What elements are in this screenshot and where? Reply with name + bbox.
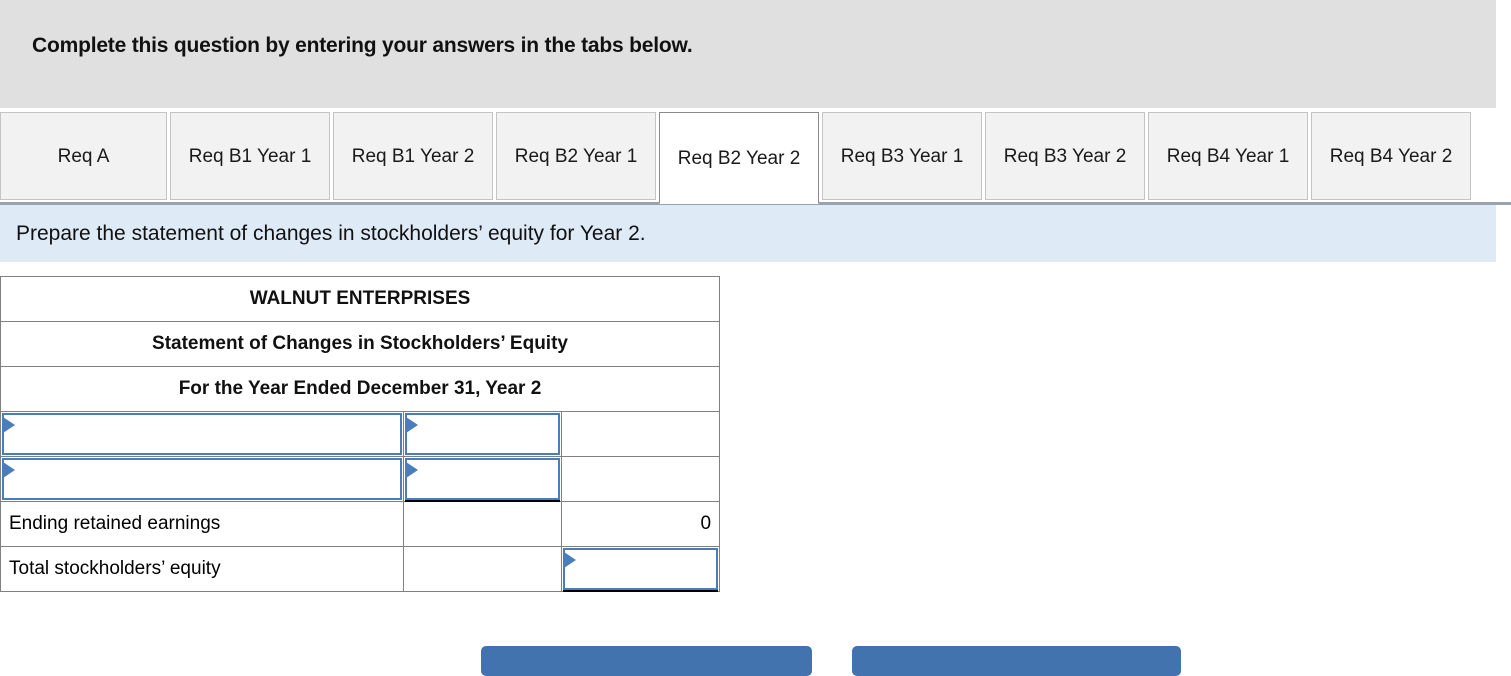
row-4-label-cell: Total stockholders’ equity: [1, 547, 404, 592]
row-2-col2-input[interactable]: [404, 457, 562, 502]
row-3-col3-cell[interactable]: 0: [562, 502, 720, 547]
tab-req-b4-year-2[interactable]: Req B4 Year 2: [1311, 112, 1471, 200]
tab-label: Req A: [58, 144, 110, 169]
dropdown-cell[interactable]: [405, 413, 560, 455]
tab-req-b1-year-2[interactable]: Req B1 Year 2: [333, 112, 493, 200]
table-row: Total stockholders’ equity: [1, 547, 720, 592]
table-header-row: Statement of Changes in Stockholders’ Eq…: [1, 322, 720, 367]
table-header-row: WALNUT ENTERPRISES: [1, 277, 720, 322]
row-1-label-input[interactable]: [1, 412, 404, 457]
statement-title-header: Statement of Changes in Stockholders’ Eq…: [1, 322, 720, 367]
tab-req-a[interactable]: Req A: [0, 112, 167, 200]
tab-label: Req B4 Year 2: [1330, 144, 1453, 169]
tab-label: Req B1 Year 2: [352, 144, 475, 169]
tab-req-b4-year-1[interactable]: Req B4 Year 1: [1148, 112, 1308, 200]
tab-req-b2-year-2[interactable]: Req B2 Year 2: [659, 112, 819, 204]
tab-label: Req B3 Year 1: [841, 144, 964, 169]
tab-req-b1-year-1[interactable]: Req B1 Year 1: [170, 112, 330, 200]
tab-label: Req B1 Year 1: [189, 144, 312, 169]
row-3-label-value: Ending retained earnings: [9, 513, 220, 534]
dropdown-cell[interactable]: [2, 413, 402, 455]
navigation-button-row: [0, 646, 1511, 663]
table-header-row: For the Year Ended December 31, Year 2: [1, 367, 720, 412]
row-1-col3-cell[interactable]: [562, 412, 720, 457]
statement-of-changes-table: WALNUT ENTERPRISES Statement of Changes …: [0, 276, 720, 592]
previous-button[interactable]: [481, 646, 812, 676]
tab-req-b3-year-2[interactable]: Req B3 Year 2: [985, 112, 1145, 200]
row-3-col2-cell[interactable]: [404, 502, 562, 547]
row-3-label-cell: Ending retained earnings: [1, 502, 404, 547]
row-2-col3-cell[interactable]: [562, 457, 720, 502]
tab-label: Req B4 Year 1: [1167, 144, 1290, 169]
table-row: [1, 457, 720, 502]
tab-req-b3-year-1[interactable]: Req B3 Year 1: [822, 112, 982, 200]
tab-strip: Req A Req B1 Year 1 Req B1 Year 2 Req B2…: [0, 108, 1511, 205]
tab-label: Req B2 Year 1: [515, 144, 638, 169]
dropdown-cell[interactable]: [2, 458, 402, 500]
instruction-banner: Complete this question by entering your …: [0, 0, 1496, 108]
row-3-col3-value: 0: [700, 513, 711, 534]
row-2-label-input[interactable]: [1, 457, 404, 502]
row-1-col2-input[interactable]: [404, 412, 562, 457]
requirement-instruction-text: Prepare the statement of changes in stoc…: [16, 222, 646, 246]
table-row: Ending retained earnings 0: [1, 502, 720, 547]
requirement-instruction-bar: Prepare the statement of changes in stoc…: [0, 205, 1496, 262]
row-4-col3-input[interactable]: [562, 547, 720, 592]
statement-table-wrapper: WALNUT ENTERPRISES Statement of Changes …: [0, 276, 719, 592]
tab-req-b2-year-1[interactable]: Req B2 Year 1: [496, 112, 656, 200]
statement-period-header: For the Year Ended December 31, Year 2: [1, 367, 720, 412]
tab-label: Req B3 Year 2: [1004, 144, 1127, 169]
company-name-header: WALNUT ENTERPRISES: [1, 277, 720, 322]
tab-label: Req B2 Year 2: [678, 146, 801, 171]
row-4-col2-cell[interactable]: [404, 547, 562, 592]
table-row: [1, 412, 720, 457]
next-button[interactable]: [852, 646, 1181, 676]
banner-text: Complete this question by entering your …: [32, 34, 1496, 58]
dropdown-cell[interactable]: [563, 548, 718, 590]
row-4-label-value: Total stockholders’ equity: [9, 558, 221, 579]
dropdown-cell[interactable]: [405, 458, 560, 500]
